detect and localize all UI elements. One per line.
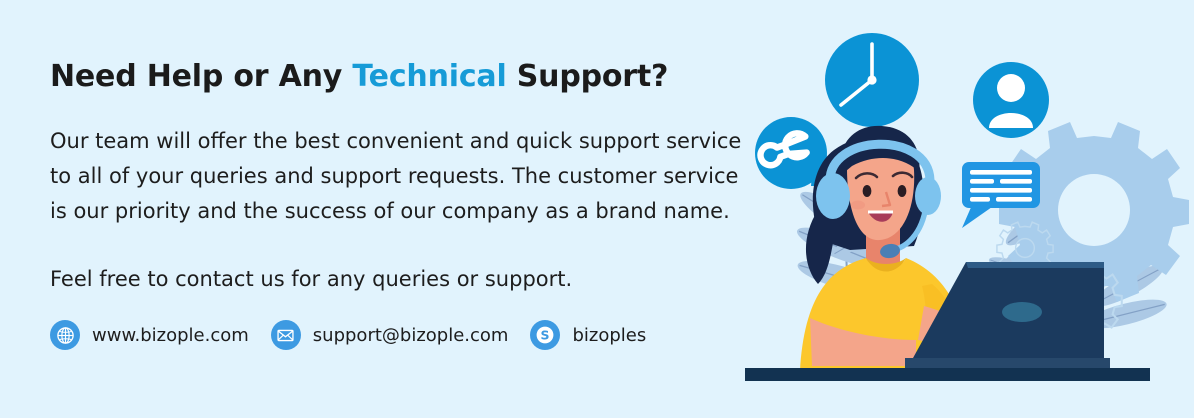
support-illustration	[700, 0, 1194, 418]
contact-label-skype: bizoples	[572, 325, 646, 346]
envelope-icon	[271, 320, 301, 350]
contact-label-website: www.bizople.com	[92, 325, 249, 346]
svg-text:S: S	[541, 328, 550, 343]
contact-item-email[interactable]: support@bizople.com	[271, 320, 509, 350]
contact-item-skype[interactable]: S bizoples	[530, 320, 646, 350]
contact-item-website[interactable]: www.bizople.com	[50, 320, 249, 350]
tagline-text: Feel free to contact us for any queries …	[50, 264, 572, 294]
description-paragraph: Our team will offer the best convenient …	[50, 124, 750, 229]
support-banner: Need Help or Any Technical Support? Our …	[0, 0, 1194, 418]
user-avatar-icon	[973, 62, 1049, 138]
clock-icon	[825, 33, 919, 127]
desk	[745, 368, 1150, 381]
headline-part-2: Support?	[507, 59, 669, 94]
headline-part-1: Need Help or Any	[50, 59, 352, 94]
skype-icon: S	[530, 320, 560, 350]
contact-label-email: support@bizople.com	[313, 325, 509, 346]
text-column: Need Help or Any Technical Support? Our …	[50, 58, 740, 96]
globe-icon	[50, 320, 80, 350]
contact-row: www.bizople.com support@bizople.com S	[50, 320, 646, 350]
headline-accent-word: Technical	[352, 59, 506, 94]
page-title: Need Help or Any Technical Support?	[50, 58, 740, 96]
